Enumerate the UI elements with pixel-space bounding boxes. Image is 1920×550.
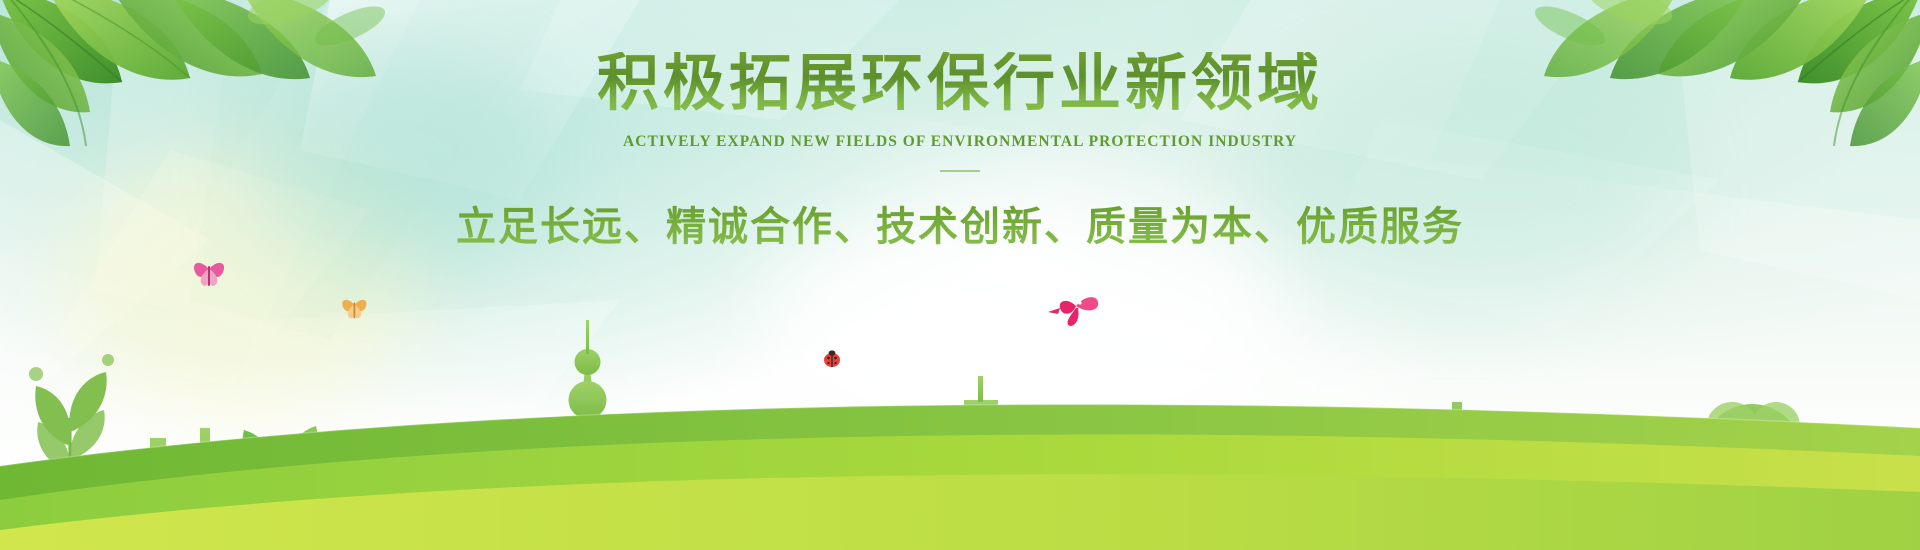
title-divider <box>940 170 980 172</box>
page-slogan: 立足长远、精诚合作、技术创新、质量为本、优质服务 <box>0 194 1920 252</box>
bottom-wave-bands <box>0 370 1920 550</box>
butterfly-icon-2 <box>342 300 366 319</box>
ladybug-icon <box>824 350 840 367</box>
page-title: 积极拓展环保行业新领域 <box>0 52 1920 117</box>
eco-banner: 积极拓展环保行业新领域 ACTIVELY EXPAND NEW FIELDS O… <box>0 0 1920 550</box>
banner-text-block: 积极拓展环保行业新领域 ACTIVELY EXPAND NEW FIELDS O… <box>0 52 1920 252</box>
butterfly-icon-1 <box>194 263 224 286</box>
page-subtitle: ACTIVELY EXPAND NEW FIELDS OF ENVIRONMEN… <box>0 133 1920 151</box>
hummingbird-icon <box>1048 297 1098 326</box>
